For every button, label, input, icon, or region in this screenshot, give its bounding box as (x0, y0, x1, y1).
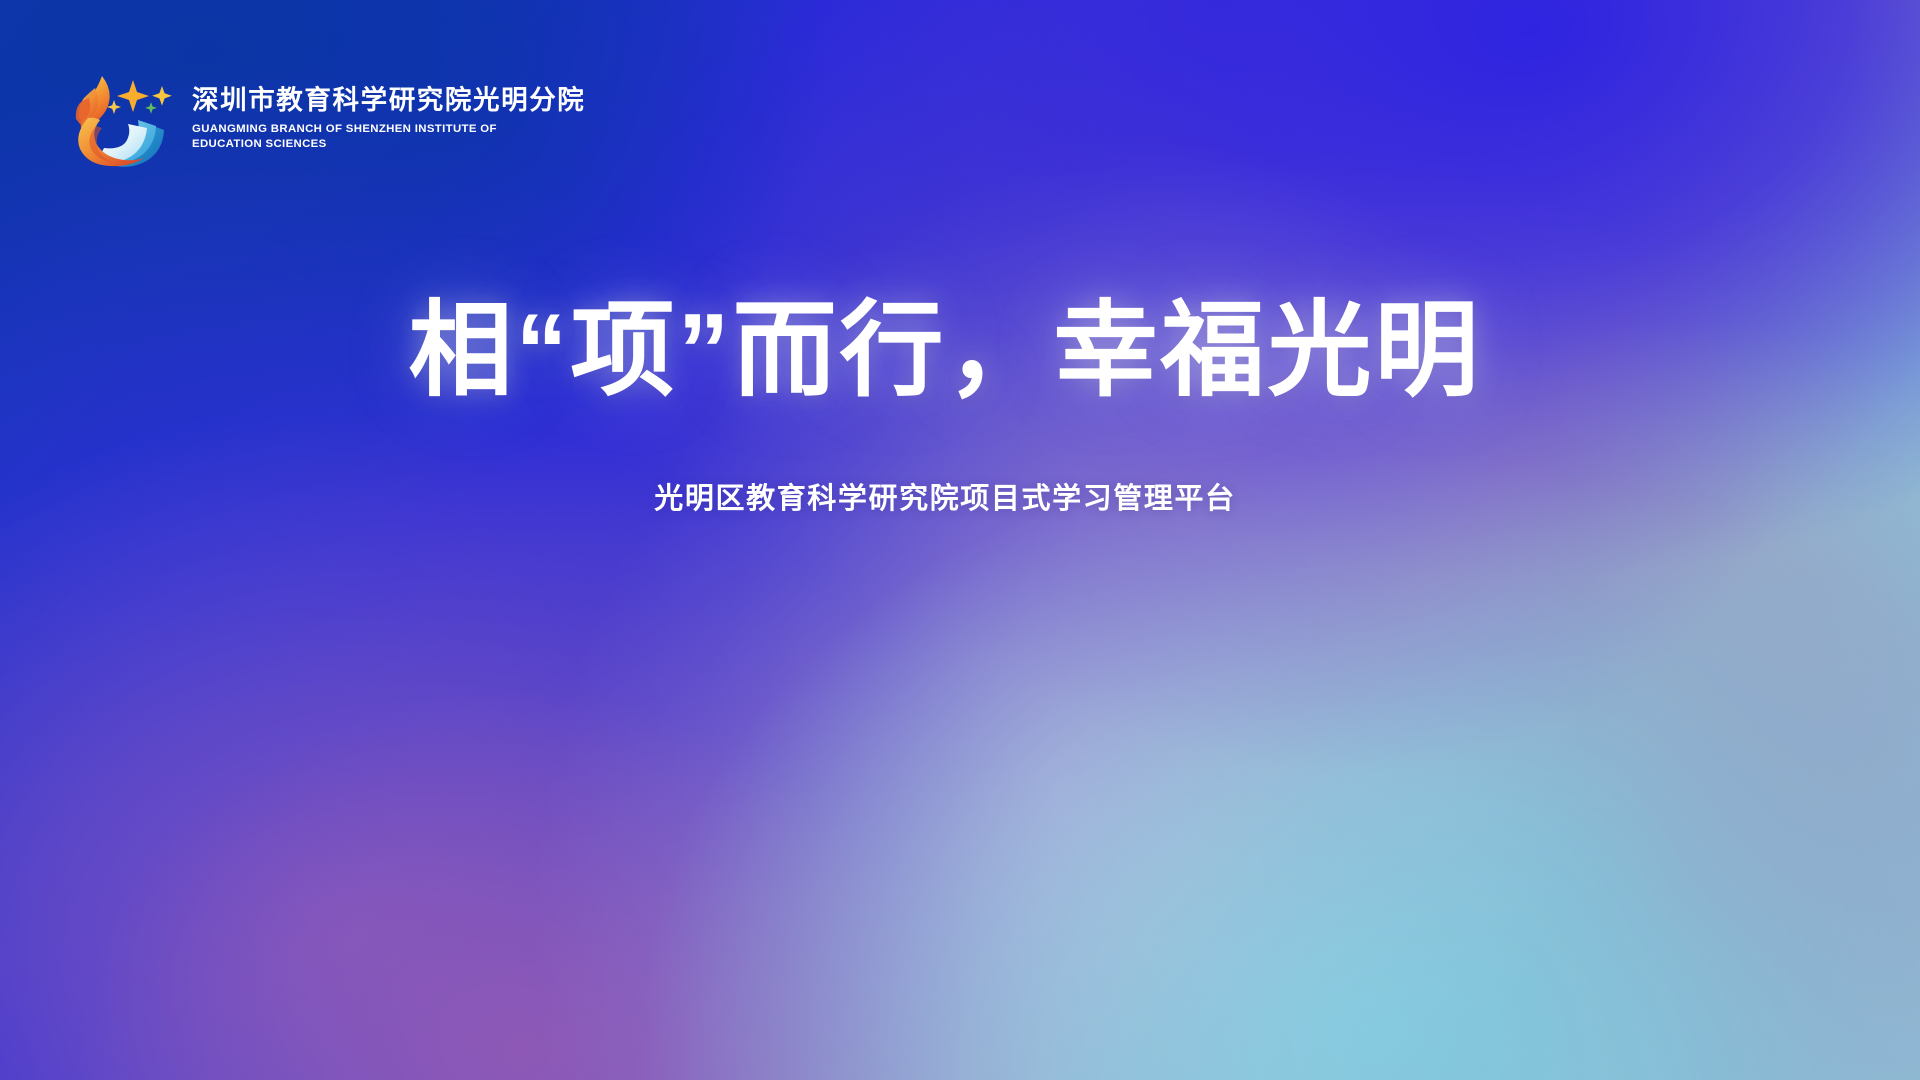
brand-text-block: 深圳市教育科学研究院光明分院 GUANGMING BRANCH OF SHENZ… (192, 81, 585, 151)
hero-background: 深圳市教育科学研究院光明分院 GUANGMING BRANCH OF SHENZ… (0, 0, 1920, 1080)
brand-name-cn: 深圳市教育科学研究院光明分院 (192, 85, 585, 116)
bg-blob-magenta (80, 690, 960, 1080)
brand-logo-lockup[interactable]: 深圳市教育科学研究院光明分院 GUANGMING BRANCH OF SHENZ… (52, 62, 585, 170)
page-title: 相“项”而行，幸福光明 (0, 290, 1890, 413)
hero-text-block: 相“项”而行，幸福光明 光明区教育科学研究院项目式学习管理平台 (0, 290, 1920, 519)
page-subtitle: 光明区教育科学研究院项目式学习管理平台 (0, 479, 1890, 520)
brand-name-en: GUANGMING BRANCH OF SHENZHEN INSTITUTE O… (192, 122, 522, 151)
flame-book-emblem-icon (52, 62, 174, 170)
bg-blob-cyan (640, 450, 1920, 1080)
bg-blob-blue-left (0, 60, 800, 1080)
